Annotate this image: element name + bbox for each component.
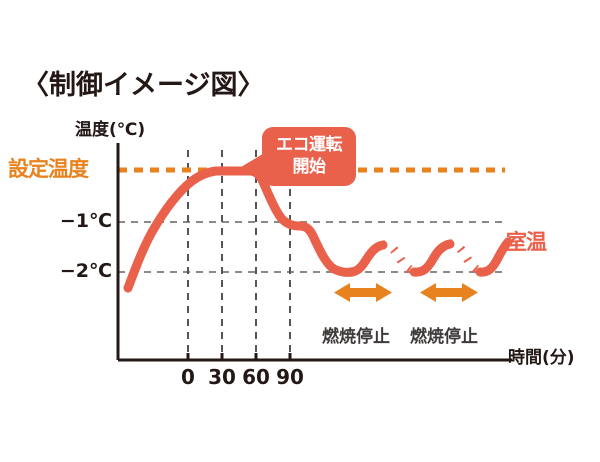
y-tick-label-minus2: −2℃: [42, 262, 112, 281]
room-temp-curve-dotted-stop2: [450, 244, 482, 272]
callout-line-2: 開始: [293, 157, 326, 178]
burn-stop-arrow-1: [334, 283, 392, 302]
y-tick-label-minus1: −1℃: [42, 212, 112, 231]
burn-stop-label-1: 燃焼停止: [322, 329, 390, 346]
room-temperature-label: 室温: [506, 232, 546, 253]
burn-stop-label-2: 燃焼停止: [410, 329, 478, 346]
room-temp-curve-solid-cycle2: [414, 244, 450, 272]
burn-stop-arrow-2: [420, 283, 478, 302]
eco-operation-callout: エコ運転 開始: [262, 127, 356, 186]
set-temperature-label: 設定温度: [8, 159, 88, 180]
x-tick-label-0: 0: [171, 367, 205, 387]
room-temp-curve-solid-final: [480, 242, 508, 272]
x-tick-label-30: 30: [205, 367, 239, 387]
x-tick-label-90: 90: [273, 367, 307, 387]
room-temp-curve-dotted-stop1: [383, 245, 416, 272]
y-axis-title: 温度(℃): [75, 122, 145, 139]
room-temp-curve-solid-main: [128, 171, 352, 288]
x-tick-label-60: 60: [239, 367, 273, 387]
control-image-diagram: 〈制御イメージ図〉 温度(℃) 時間(分) 設定温度 室温 −1℃ −2℃ 0 …: [0, 0, 600, 462]
room-temp-curve-solid-cycle1: [350, 245, 383, 272]
x-axis-title: 時間(分): [508, 350, 575, 367]
callout-line-1: エコ運転: [276, 135, 342, 156]
page-title: 〈制御イメージ図〉: [22, 72, 264, 99]
